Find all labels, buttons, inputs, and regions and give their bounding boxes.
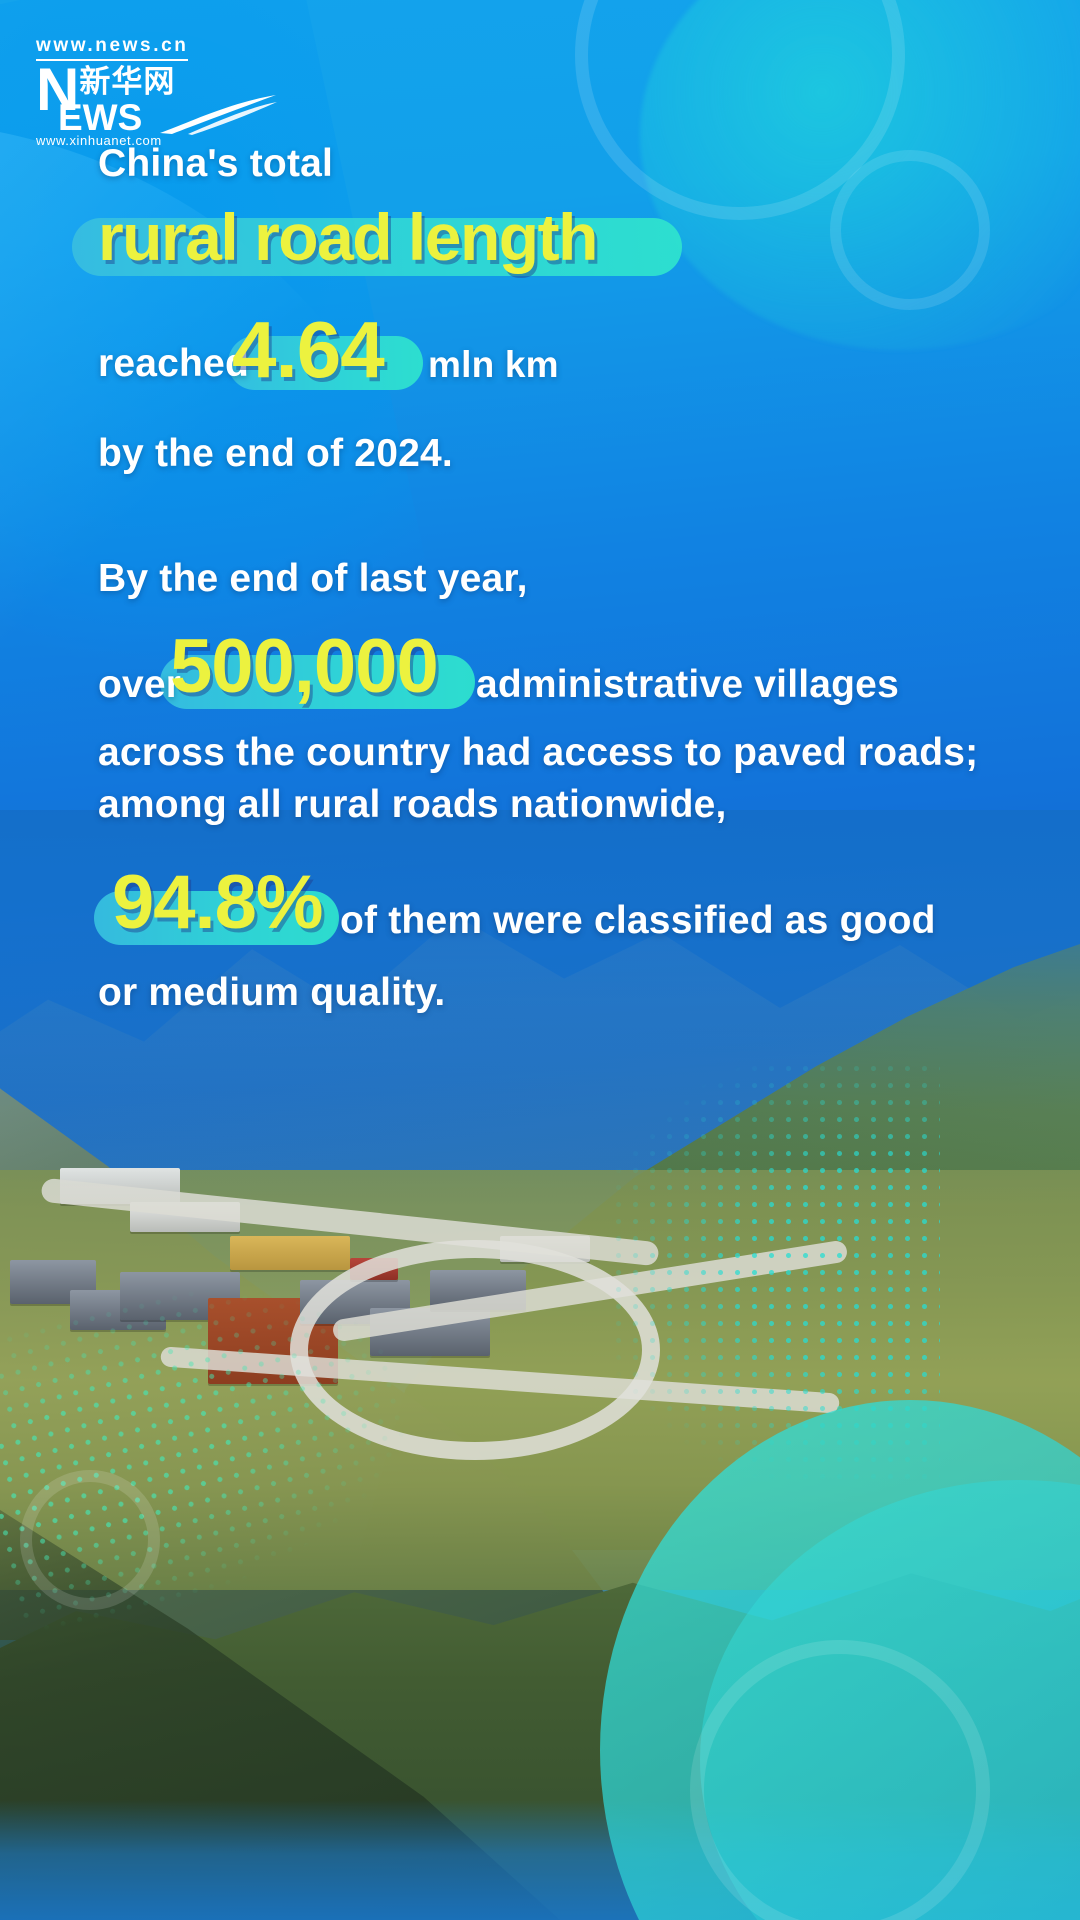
headline-rural-road-length: rural road length <box>98 196 597 279</box>
stat-unit-mln-km: mln km <box>428 340 559 390</box>
infographic-text-block: China's total rural road length reached … <box>98 138 998 1020</box>
line-by-end-of-2024: by the end of 2024. <box>98 428 998 480</box>
headline-row: rural road length <box>98 196 998 288</box>
label-over: over <box>98 659 181 711</box>
paragraph-spacer <box>98 481 998 553</box>
dot-pattern-right <box>610 1060 940 1480</box>
line-across-the-country: across the country had access to paved r… <box>98 727 998 779</box>
stat-value-quality-percent: 94.8% <box>112 859 323 946</box>
label-reached: reached <box>98 338 249 390</box>
stat-value-villages: 500,000 <box>170 623 438 710</box>
line-chinas-total: China's total <box>98 138 998 190</box>
logo-news-text: EWS <box>58 99 142 136</box>
swoosh-icon <box>158 93 278 140</box>
logo-wordmark: N 新华网 EWS <box>36 65 276 127</box>
line-or-medium-quality: or medium quality. <box>98 967 998 1019</box>
stat-value-road-length: 4.64 <box>232 304 384 396</box>
label-classified-good: of them were classified as good <box>340 895 936 947</box>
infographic-poster: www.news.cn N 新华网 EWS www.xinhuanet.com … <box>0 0 1080 1920</box>
xinhua-logo[interactable]: www.news.cn N 新华网 EWS www.xinhuanet.com <box>36 36 276 148</box>
line-by-end-of-last-year: By the end of last year, <box>98 553 998 605</box>
stat-row-quality: 94.8% of them were classified as good <box>98 867 998 967</box>
stat-row-road-length: reached 4.64 mln km <box>98 314 998 410</box>
stat-row-villages: over 500,000 administrative villages <box>98 627 998 727</box>
label-administrative-villages: administrative villages <box>476 659 899 711</box>
line-among-all-rural-roads: among all rural roads nationwide, <box>98 779 998 831</box>
